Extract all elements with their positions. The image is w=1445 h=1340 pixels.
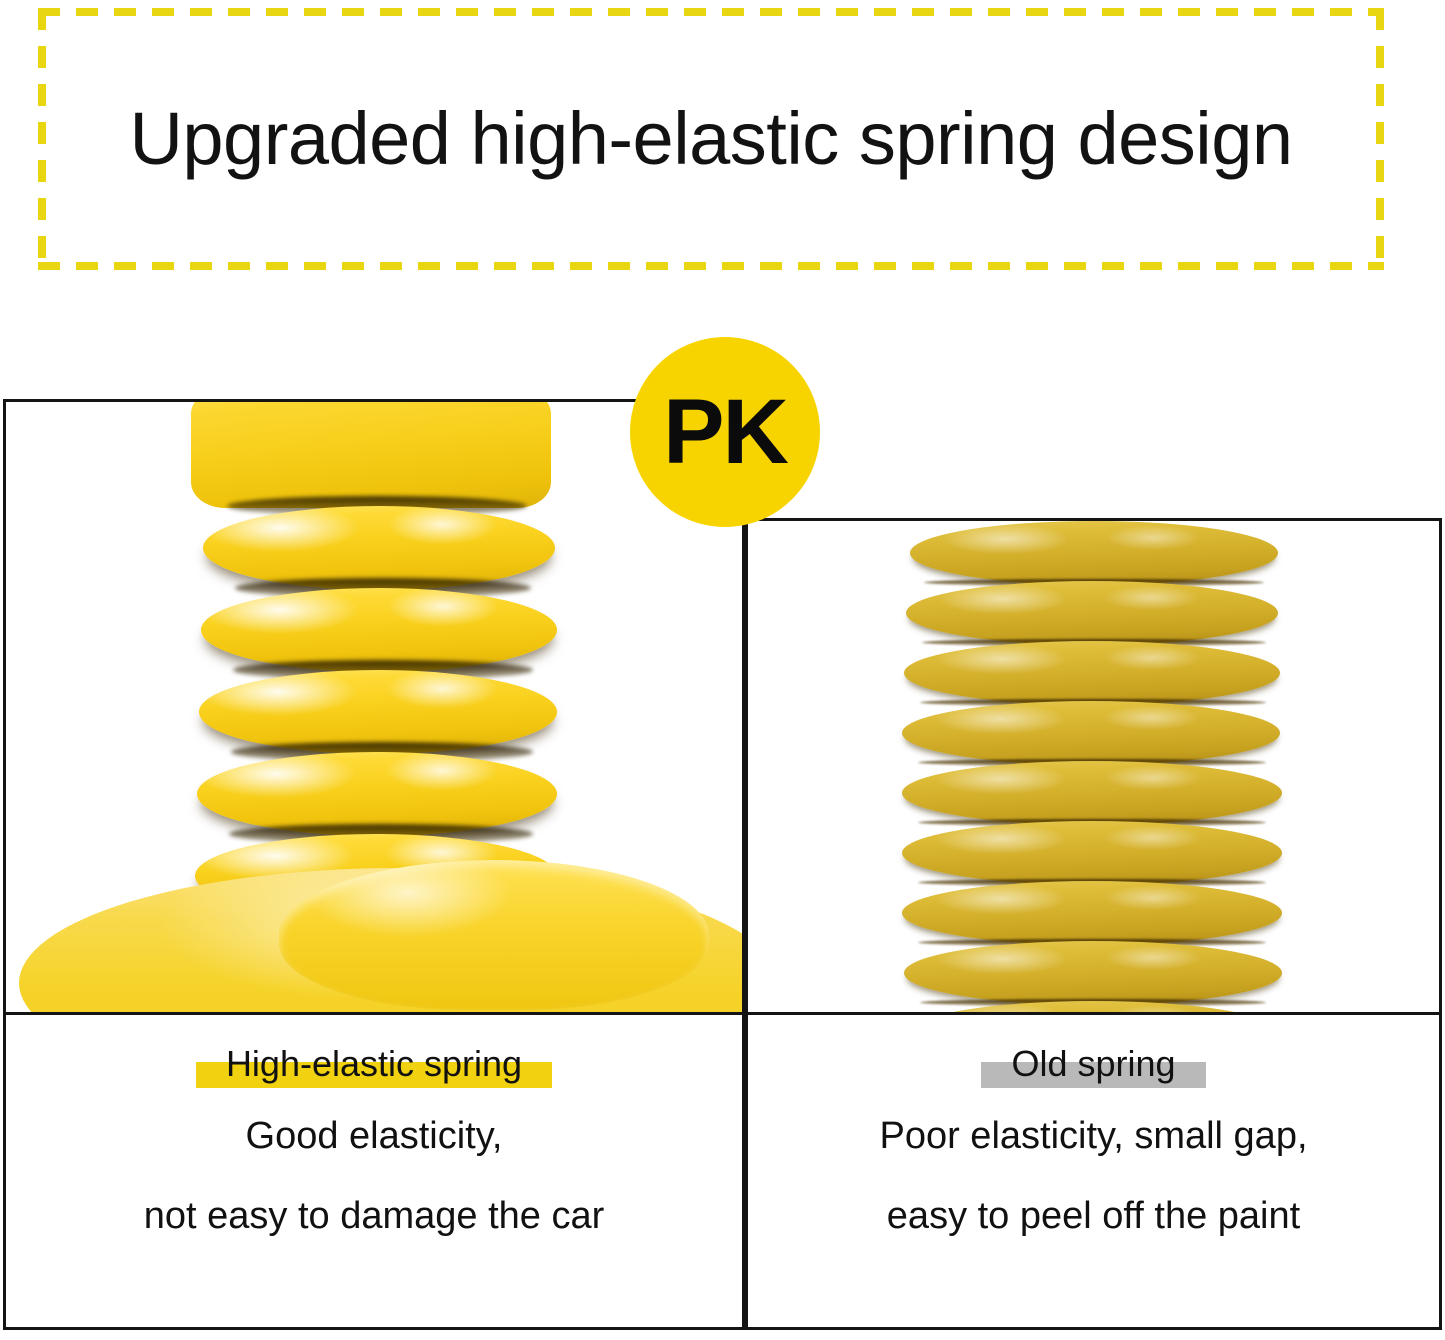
comparison-panel-left: High-elastic spring Good elasticity, not… (3, 399, 745, 1330)
caption-line-1-right: Poor elasticity, small gap, (748, 1117, 1439, 1157)
caption-right: Old spring Poor elasticity, small gap, e… (748, 1015, 1439, 1237)
comparison-section: High-elastic spring Good elasticity, not… (0, 0, 1445, 1340)
caption-left: High-elastic spring Good elasticity, not… (6, 1015, 742, 1237)
caption-heading-left: High-elastic spring (220, 1045, 528, 1083)
pk-badge-label: PK (663, 386, 787, 478)
spring-coil (906, 581, 1278, 645)
pk-versus-badge: PK (630, 337, 820, 527)
spring-coil (910, 521, 1278, 585)
caption-line-2-left: not easy to damage the car (6, 1197, 742, 1237)
spring-top-cap (191, 402, 551, 508)
product-photo-high-elastic-spring (6, 402, 742, 1012)
caption-heading-right: Old spring (1005, 1045, 1181, 1083)
comparison-panel-right: Old spring Poor elasticity, small gap, e… (745, 518, 1442, 1330)
spring-coil (902, 761, 1282, 825)
spring-base-dome (279, 860, 709, 1010)
caption-line-2-right: easy to peel off the paint (748, 1197, 1439, 1237)
high-elastic-spring-illustration (6, 402, 742, 1012)
spring-coil (904, 641, 1280, 705)
old-spring-illustration (748, 521, 1439, 1012)
spring-coil (902, 701, 1280, 765)
product-photo-old-spring (748, 521, 1439, 1012)
spring-coil (904, 941, 1282, 1005)
spring-coil (902, 881, 1282, 945)
spring-coil (902, 821, 1282, 885)
caption-line-1-left: Good elasticity, (6, 1117, 742, 1157)
